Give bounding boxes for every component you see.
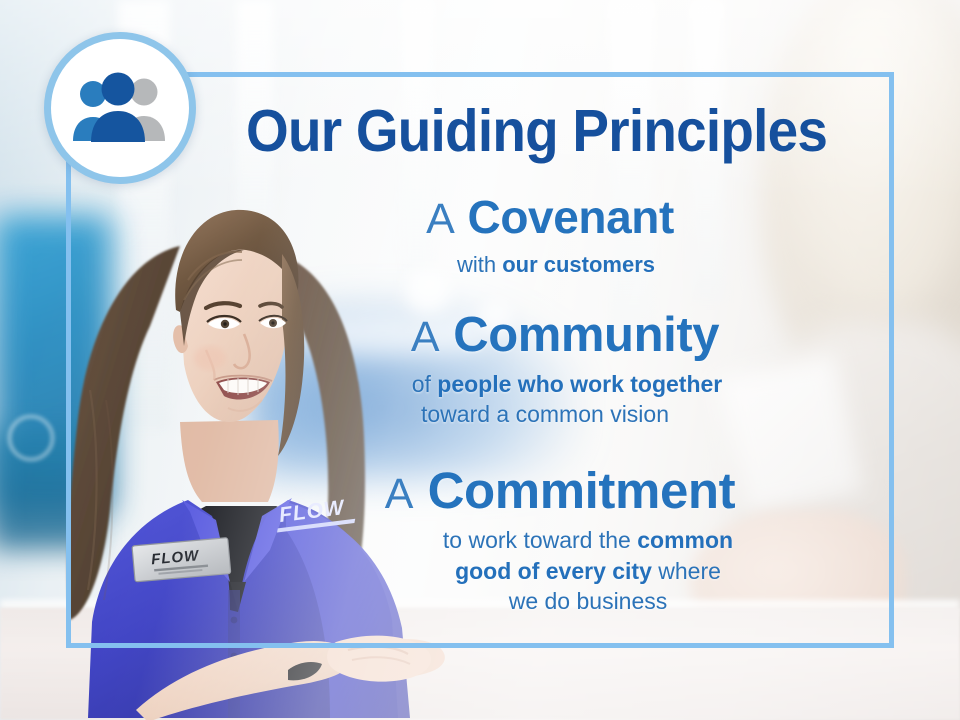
poster-canvas: FLOW FLOW	[0, 0, 960, 720]
blurred-customer	[700, 0, 960, 670]
window-pillar	[610, 0, 654, 330]
employee-photo-subject: FLOW FLOW	[30, 150, 500, 720]
people-group-badge	[44, 32, 196, 184]
person-head-gray	[131, 79, 158, 106]
people-group-icon	[68, 71, 172, 145]
neck	[180, 420, 279, 502]
person-body-dark-blue	[91, 111, 145, 142]
employee-name-badge: FLOW	[132, 538, 231, 582]
person-head-dark-blue	[102, 73, 135, 106]
shirt-button	[231, 617, 238, 624]
